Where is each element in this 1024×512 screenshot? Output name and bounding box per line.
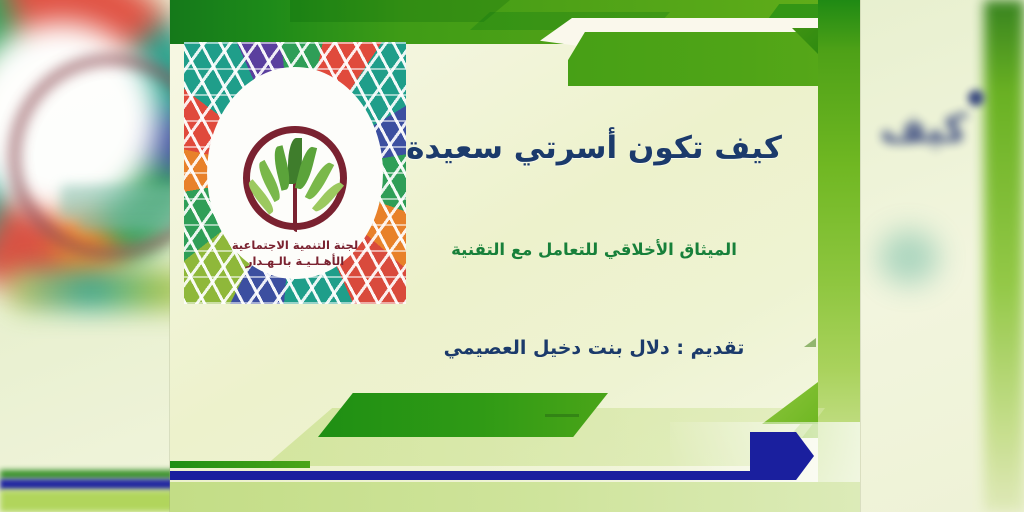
logo-organization-line-1: لجنة التنمية الاجتماعية <box>184 238 406 252</box>
right-bar-tick <box>804 338 816 347</box>
presentation-slide: لجنة التنمية الاجتماعية الأهـلـيـة بالـه… <box>170 0 860 512</box>
bottom-right-triangle <box>762 382 818 424</box>
backdrop-right-dot <box>968 90 984 106</box>
bottom-green-line <box>170 461 310 468</box>
backdrop-left-blue-bar <box>0 479 175 490</box>
backdrop-right-title-echo: كيف <box>871 105 976 153</box>
backdrop-left-green-bar <box>0 470 175 479</box>
slide-title: كيف تكون أسرتي سعيدة <box>384 130 804 166</box>
bottom-dash-mark <box>545 414 579 417</box>
slide-subtitle: الميثاق الأخلاقي للتعامل مع التقنية <box>384 240 804 259</box>
organization-logo: لجنة التنمية الاجتماعية الأهـلـيـة بالـه… <box>184 42 406 304</box>
slide-screenshot: كيف <box>0 0 1024 512</box>
slide-presenter: تقديم : دلال بنت دخيل العصيمي <box>384 337 804 359</box>
bottom-blue-line <box>170 471 782 480</box>
bottom-lime-base <box>170 482 860 512</box>
top-band-shade-1 <box>290 0 510 22</box>
backdrop-left-lime-bar <box>0 490 175 512</box>
backdrop-right-teal-blob <box>879 230 939 285</box>
logo-organization-line-2: الأهـلـيـة بالـهـدار <box>184 254 406 268</box>
backdrop-right-green-strip <box>984 0 1024 512</box>
